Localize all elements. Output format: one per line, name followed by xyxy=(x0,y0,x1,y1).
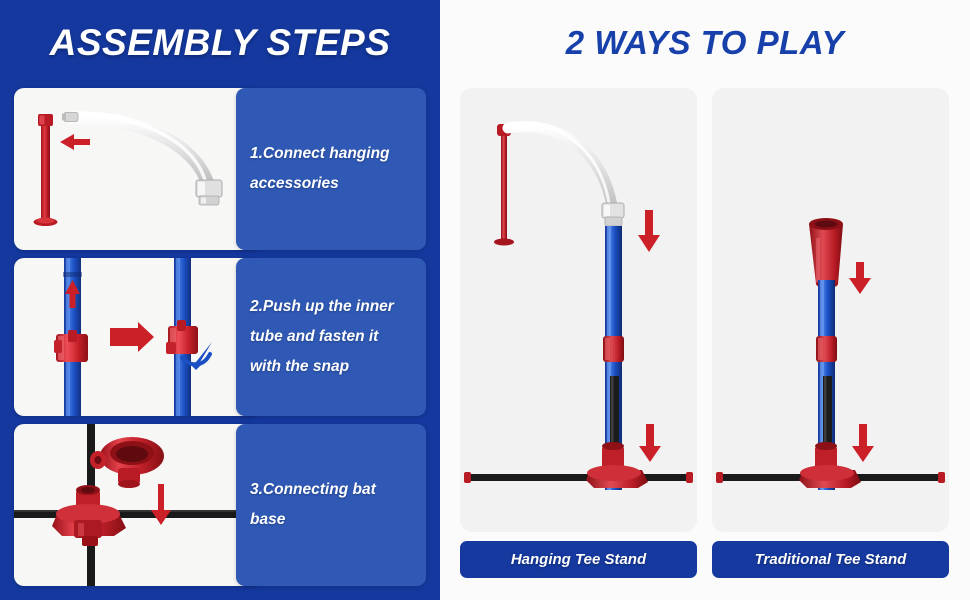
step-3-illustration xyxy=(14,424,260,586)
step-2-line-1: 2.Push up the inner xyxy=(250,292,412,322)
step-1-text: 1.Connect hanging accessories xyxy=(236,88,426,250)
page-title: ASSEMBLY STEPS xyxy=(0,22,440,64)
traditional-tee-stand-caption: Traditional Tee Stand xyxy=(712,541,949,578)
infographic-board: ASSEMBLY STEPS xyxy=(0,0,970,600)
traditional-tee-stand-card xyxy=(712,88,949,532)
step-1-line-1: 1.Connect hanging xyxy=(250,139,412,169)
step-2-illustration xyxy=(14,258,260,416)
hanging-accessory-parts-icon xyxy=(14,88,260,250)
assembly-step-2: 2.Push up the inner tube and fasten it w… xyxy=(14,258,426,416)
ways-to-play-title: 2 WAYS TO PLAY xyxy=(440,24,970,62)
traditional-tee-stand-diagram-icon xyxy=(712,88,949,532)
hanging-tee-stand-card xyxy=(460,88,697,532)
assembly-steps-panel: ASSEMBLY STEPS xyxy=(0,0,440,600)
assembly-step-1: 1.Connect hanging accessories xyxy=(14,88,426,250)
step-2-line-3: with the snap xyxy=(250,352,412,382)
step-1-line-2: accessories xyxy=(250,169,412,199)
step-3-line-1: 3.Connecting bat xyxy=(250,475,412,505)
traditional-tee-stand-label: Traditional Tee Stand xyxy=(755,551,907,568)
hanging-tee-stand-diagram-icon xyxy=(460,88,697,532)
step-1-illustration xyxy=(14,88,260,250)
step-3-text: 3.Connecting bat base xyxy=(236,424,426,586)
ways-to-play-panel: 2 WAYS TO PLAY xyxy=(440,0,970,600)
inner-tube-snap-icon xyxy=(14,258,260,416)
step-2-line-2: tube and fasten it xyxy=(250,322,412,352)
assembly-step-3: 3.Connecting bat base xyxy=(14,424,426,586)
hanging-tee-stand-caption: Hanging Tee Stand xyxy=(460,541,697,578)
step-2-text: 2.Push up the inner tube and fasten it w… xyxy=(236,258,426,416)
hanging-tee-stand-label: Hanging Tee Stand xyxy=(511,551,646,568)
step-3-line-2: base xyxy=(250,505,412,535)
bat-base-connection-icon xyxy=(14,424,260,586)
